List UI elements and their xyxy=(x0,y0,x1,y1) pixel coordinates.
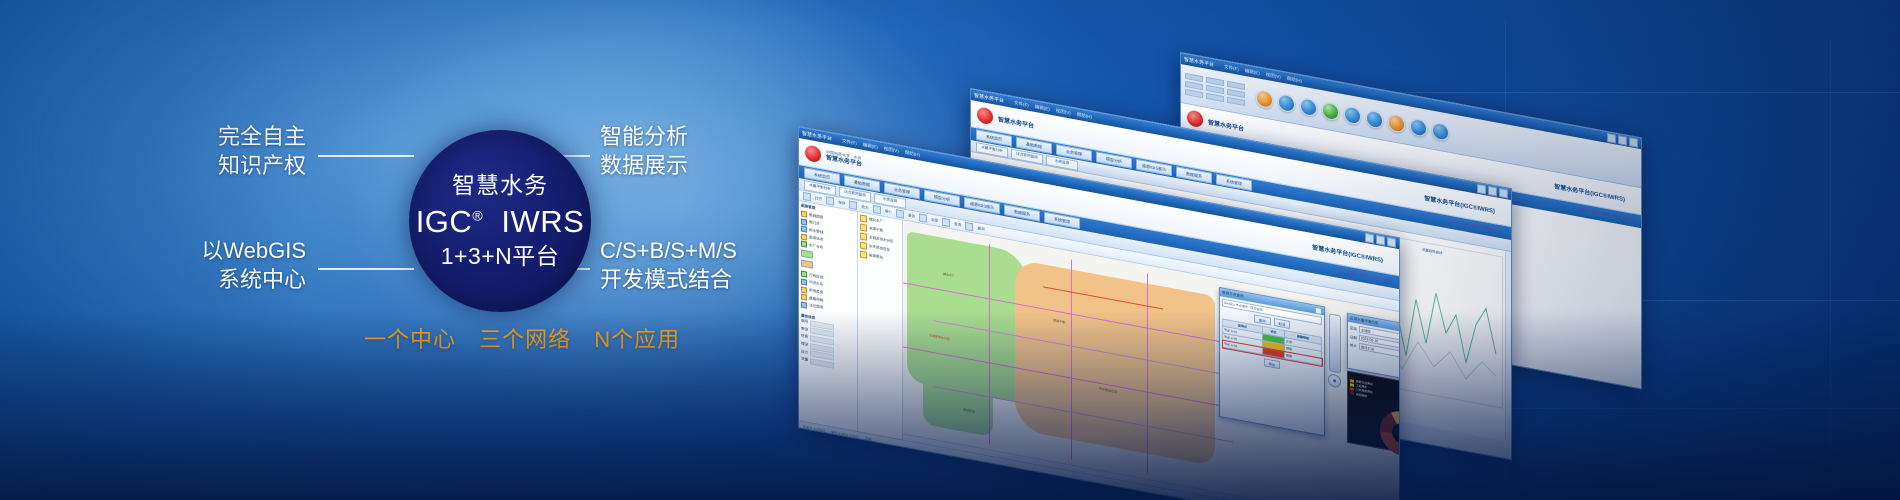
cancel-button[interactable]: 取消 xyxy=(1274,318,1291,329)
hub-product-igc: IGC xyxy=(416,204,473,239)
attr-key: 管径 xyxy=(801,326,808,332)
banner-content: 智慧水务 IGC® IWRS 1+3+N平台 完全自主 知识产权 以WebGIS… xyxy=(0,0,820,500)
menu-help[interactable]: 帮助(H) xyxy=(905,149,920,158)
gis-full-extent-icon[interactable] xyxy=(919,213,927,222)
map-zoom-slider[interactable] xyxy=(1329,313,1341,373)
gis-measure-icon[interactable] xyxy=(965,222,973,231)
ribbon-icon-settings[interactable] xyxy=(1410,117,1427,137)
middle-app-title: 智慧水务平台(IGC®IWRS) xyxy=(1424,193,1505,217)
gis-tool-query[interactable]: 查询 xyxy=(954,221,961,227)
hub-product-iwrs: IWRS xyxy=(501,204,584,239)
feature-label: 东环路加压站 xyxy=(869,244,890,253)
gis-tool-zoomin[interactable]: 放大 xyxy=(861,204,868,210)
menu-edit[interactable]: 编辑(E) xyxy=(1245,67,1260,76)
menu-edit[interactable]: 编辑(E) xyxy=(1035,103,1050,112)
status-scale: 比例尺 1:25000 xyxy=(803,423,825,432)
nav-right-exit[interactable]: 退出 xyxy=(1625,216,1632,222)
nav-right-exit[interactable]: 退出 xyxy=(1383,277,1390,283)
front-app-title: 智慧水务平台(IGC®IWRS) xyxy=(1312,242,1393,266)
layer-label: 阀门点 xyxy=(809,220,820,227)
layer-tree-panel[interactable]: 图层管理 管网图层 阀门点 供水管线 监测站点 水厂分布 行政区划 河流水系 用… xyxy=(799,201,858,431)
middle-brand-name: 智慧水务平台 xyxy=(998,114,1034,130)
application-screenshot-stack: 智慧水务平台 文件(F) 编辑(E) 视图(V) 帮助(H) xyxy=(780,30,1900,460)
feature-list-panel[interactable]: 城北水厂 滨湖干管 主城区供水分区 东环路加压站 南湖泵站 xyxy=(858,212,903,439)
feature-top-right-line1: 智能分析 xyxy=(600,124,688,149)
feature-label: 南湖泵站 xyxy=(869,253,883,261)
status-ready: 就绪 xyxy=(865,435,871,441)
map-region-green-2 xyxy=(923,364,993,437)
middle-vertical-scrollbar[interactable] xyxy=(1505,251,1511,442)
gis-save-icon[interactable] xyxy=(826,196,834,205)
feature-top-right: 智能分析 数据展示 xyxy=(600,122,688,181)
feature-top-left: 完全自主 知识产权 xyxy=(186,122,306,181)
close-icon[interactable] xyxy=(1629,137,1638,148)
ribbon-icon-open[interactable] xyxy=(1256,89,1273,109)
nav-right-exit[interactable]: 退出 xyxy=(1495,228,1502,234)
gis-zoom-in-icon[interactable] xyxy=(849,201,857,210)
feature-bottom-left: 以WebGIS 系统中心 xyxy=(166,236,306,295)
wb-key: 日期 xyxy=(1350,334,1357,340)
menu-view[interactable]: 视图(V) xyxy=(1266,71,1281,80)
ribbon-icon-user[interactable] xyxy=(1432,121,1449,141)
hub-title: 智慧水务 xyxy=(452,174,548,197)
close-icon[interactable] xyxy=(1499,188,1508,199)
water-balance-dialog-body: 区域 主城区 日期 2023-08-18 统计 逐日汇总 xyxy=(1348,322,1399,370)
gis-tool-full[interactable]: 全图 xyxy=(931,217,938,223)
nav-right-help[interactable]: 帮助 xyxy=(1360,273,1367,279)
maximize-icon[interactable] xyxy=(1376,235,1385,246)
nav-right-user[interactable]: 用户 xyxy=(1450,220,1457,226)
nav-right-settings[interactable]: 设置 xyxy=(1372,275,1379,281)
nav-right-settings[interactable]: 设置 xyxy=(1614,214,1621,220)
close-icon[interactable] xyxy=(1387,237,1396,248)
menu-edit[interactable]: 编辑(E) xyxy=(863,141,878,150)
attr-key: 压力 xyxy=(801,349,808,355)
feature-label: 城北水厂 xyxy=(869,217,883,225)
minimize-icon[interactable] xyxy=(1365,233,1374,244)
back-app-title: 智慧水务平台(IGC®IWRS) xyxy=(1554,181,1635,205)
menu-file[interactable]: 文件(F) xyxy=(1014,100,1029,109)
feature-label: 滨湖干管 xyxy=(869,226,883,234)
maximize-icon[interactable] xyxy=(1488,186,1497,197)
company-logo-icon xyxy=(1187,109,1203,128)
menu-help[interactable]: 帮助(H) xyxy=(1287,75,1302,84)
map-road xyxy=(989,244,990,444)
menu-file[interactable]: 文件(F) xyxy=(842,138,857,147)
close-icon[interactable] xyxy=(1315,306,1322,314)
tagline-part-2: 三个网络 xyxy=(479,327,571,352)
gis-pan-icon[interactable] xyxy=(896,209,904,218)
minimize-icon[interactable] xyxy=(1477,184,1486,195)
supply-pie-legend: 居民生活用水 工业用水 公共服务用水 管网漏损 xyxy=(1350,378,1373,399)
ribbon-chip-group xyxy=(1185,73,1245,106)
ribbon-icon-report[interactable] xyxy=(1322,101,1339,121)
menu-file[interactable]: 文件(F) xyxy=(1224,64,1239,73)
gis-tool-zoomout[interactable]: 缩小 xyxy=(885,209,892,215)
gis-zoom-out-icon[interactable] xyxy=(873,205,881,214)
attr-key: 埋深 xyxy=(801,342,808,348)
menu-help[interactable]: 帮助(H) xyxy=(1077,111,1092,120)
platform-hub-circle: 智慧水务 IGC® IWRS 1+3+N平台 xyxy=(409,130,591,312)
hub-product-name: IGC® IWRS xyxy=(416,206,585,237)
attr-key: 编号 xyxy=(801,319,808,325)
attr-key: 流量 xyxy=(801,357,808,363)
company-logo-icon xyxy=(977,106,993,125)
connector-line-bottom-left xyxy=(318,268,414,270)
gis-tool-open[interactable]: 打开 xyxy=(815,196,822,202)
wb-key: 统计 xyxy=(1350,342,1357,348)
ribbon-icon-query[interactable] xyxy=(1344,105,1361,125)
nav-right-help[interactable]: 帮助 xyxy=(1602,212,1609,218)
feature-bottom-right: C/S+B/S+M/S 开发模式结合 xyxy=(600,236,737,295)
nav-right-user[interactable]: 用户 xyxy=(1338,269,1345,275)
gis-query-icon[interactable] xyxy=(942,218,950,227)
map-road xyxy=(1147,274,1148,474)
feature-bottom-left-line1: 以WebGIS xyxy=(201,238,306,263)
layer-label: 注记图层 xyxy=(809,303,823,311)
ribbon-icon-map[interactable] xyxy=(1300,97,1317,117)
hub-platform-tier: 1+3+N平台 xyxy=(441,245,560,268)
map-road xyxy=(1071,260,1072,460)
wb-key: 区域 xyxy=(1350,325,1357,331)
banner-tagline: 一个中心 三个网络 N个应用 xyxy=(364,322,680,354)
legend-swatch-orange xyxy=(801,260,813,269)
feature-top-left-line2: 知识产权 xyxy=(186,151,306,180)
feature-top-left-line1: 完全自主 xyxy=(218,124,306,149)
minimize-icon[interactable] xyxy=(1607,133,1616,144)
nav-right-user[interactable]: 用户 xyxy=(1580,208,1587,214)
tagline-part-3: N个应用 xyxy=(594,327,680,352)
menu-view[interactable]: 视图(V) xyxy=(1056,107,1071,116)
company-logo-icon xyxy=(805,144,821,163)
legend-swatch-green xyxy=(801,250,813,259)
maximize-icon[interactable] xyxy=(1618,135,1627,146)
node-query-dialog[interactable]: 管网节点查询 DN400 / 节点编号 / 压力监测 查询 取消 xyxy=(1219,287,1325,437)
connector-line-top-left xyxy=(318,155,414,157)
nav-right-logout[interactable]: 注销 xyxy=(1349,271,1356,277)
gis-tool-measure[interactable]: 量测 xyxy=(977,226,984,232)
ribbon-icon-model[interactable] xyxy=(1366,109,1383,129)
nav-right-settings[interactable]: 设置 xyxy=(1484,226,1491,232)
back-brand-name: 智慧水务平台 xyxy=(1208,117,1244,133)
layer-label: 水厂分布 xyxy=(809,243,823,251)
tagline-part-1: 一个中心 xyxy=(364,327,456,352)
nav-right-help[interactable]: 帮助 xyxy=(1472,224,1479,230)
gis-open-icon[interactable] xyxy=(803,192,811,201)
export-button[interactable]: 导出 xyxy=(1264,358,1281,369)
attr-key: 材质 xyxy=(801,334,808,340)
feature-bottom-right-line1: C/S+B/S+M/S xyxy=(600,238,737,263)
ribbon-icon-data[interactable] xyxy=(1278,93,1295,113)
promo-banner: 智慧水务 IGC® IWRS 1+3+N平台 完全自主 知识产权 以WebGIS… xyxy=(0,0,1900,500)
feature-top-right-line2: 数据展示 xyxy=(600,151,688,180)
registered-mark-icon: ® xyxy=(472,208,483,224)
feature-bottom-right-line2: 开发模式结合 xyxy=(600,265,737,294)
gis-tool-pan[interactable]: 漫游 xyxy=(908,213,915,219)
menu-view[interactable]: 视图(V) xyxy=(884,145,899,154)
feature-bottom-left-line2: 系统中心 xyxy=(166,265,306,294)
gis-tool-save[interactable]: 保存 xyxy=(838,200,845,206)
nav-right-logout[interactable]: 注销 xyxy=(1461,222,1468,228)
query-button[interactable]: 查询 xyxy=(1254,314,1271,325)
ribbon-icon-alarm[interactable] xyxy=(1388,113,1405,133)
legend-label: 管网漏损 xyxy=(1356,392,1367,398)
nav-right-logout[interactable]: 注销 xyxy=(1591,210,1598,216)
